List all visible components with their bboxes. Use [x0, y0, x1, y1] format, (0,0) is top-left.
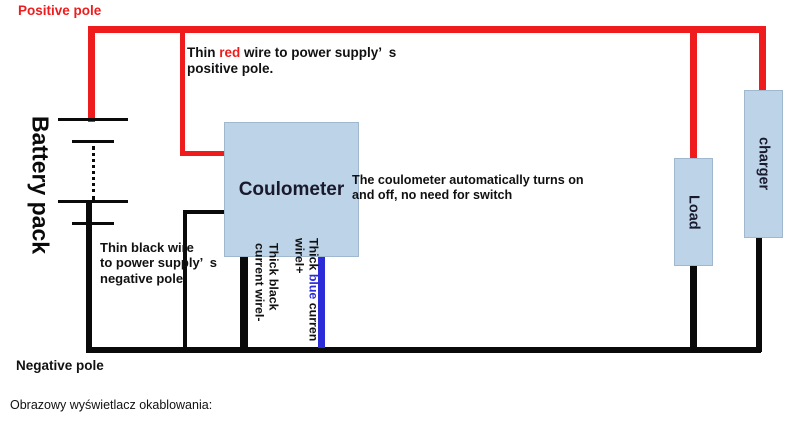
note-red-part-b: wire to power supply’ s — [240, 45, 396, 60]
thick-black-current-wire — [240, 250, 248, 351]
battery-plate-1 — [58, 118, 128, 121]
note-thin-black-wire: Thin black wireto power supply’ snegativ… — [100, 240, 217, 286]
note-red-line2: positive pole. — [187, 61, 273, 76]
battery-plate-2 — [72, 140, 114, 143]
coulometer-box[interactable]: Coulometer — [224, 122, 359, 257]
note-thin-black-line3: negative pole — [100, 271, 183, 286]
note-red-keyword: red — [219, 45, 240, 60]
coulometer-label: Coulometer — [225, 123, 358, 256]
black-wire-charger-leg — [756, 236, 762, 352]
thick-blue-wire-label: Thick blue currenwireI+ — [292, 238, 321, 341]
red-wire-coulometer-drop — [180, 26, 185, 153]
black-wire-battery-stub — [86, 203, 92, 353]
note-thin-black-line1: Thin black wire — [100, 240, 194, 255]
thick-black-label-line1: Thick black — [267, 243, 281, 311]
red-wire-battery-stub — [88, 26, 95, 122]
charger-box[interactable]: charger — [744, 90, 783, 238]
positive-pole-label: Positive pole — [18, 3, 101, 19]
thick-blue-label-part-b: curren — [307, 299, 321, 341]
thick-black-wire-label: Thick blackcurrent wireI- — [252, 243, 281, 322]
thick-blue-label-line2: wireI+ — [292, 238, 306, 273]
note-thin-black-line2: to power supply’ s — [100, 255, 217, 270]
red-wire-load-drop — [690, 26, 697, 161]
note-coulometer: The coulometer automatically turns onand… — [352, 173, 584, 203]
red-wire-coulometer-lead — [180, 151, 228, 156]
thick-blue-label-keyword: blue — [307, 274, 321, 299]
note-red-part-a: Thin — [187, 45, 219, 60]
negative-pole-label: Negative pole — [16, 358, 104, 374]
note-red-wire: Thin red wire to power supply’ spositive… — [187, 45, 396, 77]
black-wire-negative-rail — [86, 347, 761, 353]
red-wire-charger-drop — [759, 26, 766, 93]
red-wire-top-bus — [88, 26, 766, 33]
note-coulometer-line2: and off, no need for switch — [352, 188, 512, 202]
thick-black-label-line2: current wireI- — [252, 243, 266, 322]
load-label: Load — [675, 159, 712, 265]
thin-black-wire-lead — [183, 210, 228, 214]
black-wire-load-leg — [690, 264, 697, 352]
note-coulometer-line1: The coulometer automatically turns on — [352, 173, 584, 187]
battery-plate-3 — [58, 200, 128, 203]
charger-label: charger — [745, 91, 782, 237]
thick-blue-label-part-a: Thick — [307, 238, 321, 274]
load-box[interactable]: Load — [674, 158, 713, 266]
wiring-diagram: Battery pack Coulometer Load charger Pos… — [0, 0, 795, 426]
battery-plate-4 — [72, 222, 114, 225]
diagram-caption: Obrazowy wyświetlacz okablowania: — [10, 398, 212, 413]
battery-pack-label: Battery pack — [22, 100, 58, 270]
battery-series-dots — [92, 146, 95, 200]
